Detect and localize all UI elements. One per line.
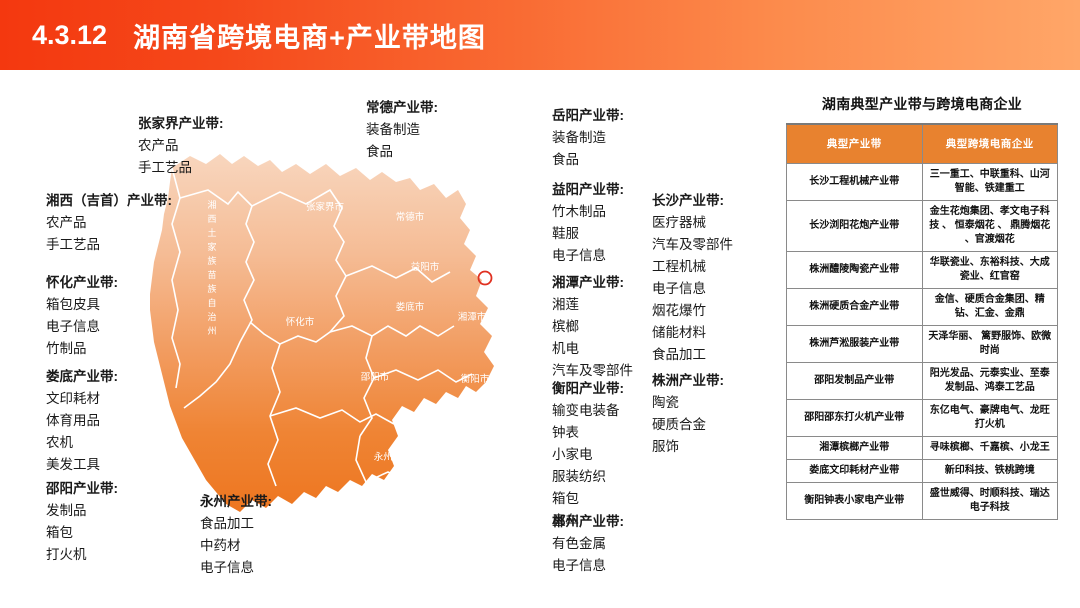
belt-item: 体育用品 [46, 410, 118, 432]
belt-item: 小家电 [552, 444, 624, 466]
section-number: 4.3.12 [32, 20, 107, 51]
belt-title: 益阳产业带: [552, 179, 624, 201]
belt-item: 槟榔 [552, 316, 633, 338]
table-title: 湖南典型产业带与跨境电商企业 [786, 94, 1058, 114]
city-label-yiyang: 益阳市 [411, 261, 440, 273]
belt-item: 文印耗材 [46, 388, 118, 410]
belt-item: 工程机械 [652, 256, 733, 278]
capital-city-marker [479, 272, 492, 285]
svg-text:自: 自 [207, 297, 216, 308]
belt-item: 美发工具 [46, 454, 118, 476]
belt-item: 装备制造 [552, 127, 624, 149]
belt-item: 烟花爆竹 [652, 300, 733, 322]
cell-belt: 株洲芦淞服装产业带 [787, 326, 923, 363]
cell-belt: 湘潭槟榔产业带 [787, 437, 923, 460]
belt-item: 陶瓷 [652, 392, 724, 414]
cell-companies: 金信、硬质合金集团、精钻、汇金、金鼎 [922, 289, 1058, 326]
belt-item: 电子信息 [46, 316, 118, 338]
belt-item: 手工艺品 [46, 234, 172, 256]
map-svg: 张家界市 常德市 岳阳市 益阳市 长沙市 怀化市 娄底市 湘潭市 株洲市 邵阳市… [120, 120, 550, 580]
belt-label-hengyang: 衡阳产业带: 输变电装备 钟表 小家电 服装纺织 箱包 童车 [552, 378, 624, 532]
belt-item: 发制品 [46, 500, 118, 522]
table-row: 株洲醴陵陶瓷产业带 华联瓷业、东裕科技、大成瓷业、红官窑 [787, 252, 1058, 289]
svg-text:西: 西 [207, 214, 216, 224]
belt-item: 食品 [552, 149, 624, 171]
belt-title: 邵阳产业带: [46, 478, 118, 500]
belt-item: 汽车及零部件 [652, 234, 733, 256]
belt-label-xiangtan: 湘潭产业带: 湘莲 槟榔 机电 汽车及零部件 [552, 272, 633, 382]
city-label-loudi: 娄底市 [396, 301, 425, 313]
belt-item: 箱包 [552, 488, 624, 510]
belt-item: 有色金属 [552, 533, 624, 555]
svg-text:治: 治 [207, 311, 216, 322]
belt-item: 电子信息 [552, 245, 624, 267]
belt-label-chenzhou: 郴州产业带: 有色金属 电子信息 [552, 511, 624, 577]
svg-text:湘: 湘 [207, 199, 216, 210]
belt-label-zhangjiajie: 张家界产业带: 农产品 手工艺品 [138, 113, 224, 179]
belt-label-yongzhou: 永州产业带: 食品加工 中药材 电子信息 [200, 491, 272, 579]
belt-item: 医疗器械 [652, 212, 733, 234]
city-label-changsha: 长沙市 [496, 273, 525, 285]
cell-belt: 株洲硬质合金产业带 [787, 289, 923, 326]
cell-companies: 寻味槟榔、千嘉槟、小龙王 [922, 437, 1058, 460]
table-header-row: 典型产业带 典型跨境电商企业 [787, 124, 1058, 164]
belt-label-changsha: 长沙产业带: 医疗器械 汽车及零部件 工程机械 电子信息 烟花爆竹 储能材料 食… [652, 190, 733, 366]
table-row: 邵阳邵东打火机产业带 东亿电气、豪牌电气、龙旺打火机 [787, 400, 1058, 437]
table-row: 长沙工程机械产业带 三一重工、中联重科、山河智能、铁建重工 [787, 164, 1058, 201]
industry-belt-table-panel: 湖南典型产业带与跨境电商企业 典型产业带 典型跨境电商企业 长沙工程机械产业带 … [786, 94, 1058, 520]
cell-companies: 新印科技、铁桃跨境 [922, 460, 1058, 483]
belt-title: 湘潭产业带: [552, 272, 633, 294]
belt-title: 郴州产业带: [552, 511, 624, 533]
cell-belt: 长沙浏阳花炮产业带 [787, 201, 923, 252]
cell-companies: 盛世威得、时顺科技、瑞达电子科技 [922, 483, 1058, 520]
belt-item: 电子信息 [552, 555, 624, 577]
cell-belt: 邵阳发制品产业带 [787, 363, 923, 400]
belt-item: 电子信息 [200, 557, 272, 579]
belt-title: 永州产业带: [200, 491, 272, 513]
belt-title: 衡阳产业带: [552, 378, 624, 400]
svg-text:族: 族 [207, 255, 216, 266]
belt-title: 株洲产业带: [652, 370, 724, 392]
svg-text:家: 家 [207, 241, 216, 252]
svg-text:族: 族 [207, 283, 216, 294]
belt-item: 储能材料 [652, 322, 733, 344]
belt-label-shaoyang: 邵阳产业带: 发制品 箱包 打火机 [46, 478, 118, 566]
belt-label-xiangxi: 湘西（吉首）产业带: 农产品 手工艺品 [46, 190, 172, 256]
belt-item: 竹木制品 [552, 201, 624, 223]
city-label-zhuzhou: 株洲市 [504, 331, 533, 343]
cell-belt: 娄底文印耗材产业带 [787, 460, 923, 483]
city-label-yongzhou: 永州市 [374, 451, 403, 463]
column-header-belt: 典型产业带 [787, 124, 923, 164]
cell-companies: 华联瓷业、东裕科技、大成瓷业、红官窑 [922, 252, 1058, 289]
cell-companies: 三一重工、中联重科、山河智能、铁建重工 [922, 164, 1058, 201]
table-row: 湘潭槟榔产业带 寻味槟榔、千嘉槟、小龙王 [787, 437, 1058, 460]
page-title: 湖南省跨境电商+产业带地图 [133, 16, 486, 55]
belt-label-huaihua: 怀化产业带: 箱包皮具 电子信息 竹制品 [46, 272, 118, 360]
belt-item: 农产品 [46, 212, 172, 234]
svg-text:苗: 苗 [207, 270, 216, 280]
belt-title: 长沙产业带: [652, 190, 733, 212]
svg-text:州: 州 [207, 326, 216, 336]
belt-item: 手工艺品 [138, 157, 224, 179]
city-label-shaoyang: 邵阳市 [361, 371, 390, 383]
table-row: 株洲芦淞服装产业带 天泽华丽、 篱野服饰、欧微时尚 [787, 326, 1058, 363]
belt-item: 竹制品 [46, 338, 118, 360]
city-label-hengyang: 衡阳市 [461, 373, 490, 385]
belt-item: 钟表 [552, 422, 624, 444]
belt-title: 怀化产业带: [46, 272, 118, 294]
belt-label-zhuzhou: 株洲产业带: 陶瓷 硬质合金 服饰 [652, 370, 724, 458]
belt-item: 服装纺织 [552, 466, 624, 488]
cell-companies: 金生花炮集团、孝文电子科技 、 恒泰烟花 、 鼎腾烟花 、官渡烟花 [922, 201, 1058, 252]
belt-item: 箱包皮具 [46, 294, 118, 316]
column-header-companies: 典型跨境电商企业 [922, 124, 1058, 164]
belt-item: 打火机 [46, 544, 118, 566]
belt-item: 电子信息 [652, 278, 733, 300]
belt-item: 农机 [46, 432, 118, 454]
belt-item: 中药材 [200, 535, 272, 557]
table-row: 长沙浏阳花炮产业带 金生花炮集团、孝文电子科技 、 恒泰烟花 、 鼎腾烟花 、官… [787, 201, 1058, 252]
belt-label-changde: 常德产业带: 装备制造 食品 [366, 97, 438, 163]
cell-companies: 天泽华丽、 篱野服饰、欧微时尚 [922, 326, 1058, 363]
belt-item: 装备制造 [366, 119, 438, 141]
table-row: 衡阳钟表小家电产业带 盛世威得、时顺科技、瑞达电子科技 [787, 483, 1058, 520]
belt-item: 湘莲 [552, 294, 633, 316]
hunan-province-map: 张家界市 常德市 岳阳市 益阳市 长沙市 怀化市 娄底市 湘潭市 株洲市 邵阳市… [120, 120, 550, 580]
cell-belt: 邵阳邵东打火机产业带 [787, 400, 923, 437]
belt-label-yueyang: 岳阳产业带: 装备制造 食品 [552, 105, 624, 171]
city-label-huaihua: 怀化市 [286, 316, 315, 328]
belt-item: 农产品 [138, 135, 224, 157]
belt-item: 食品 [366, 141, 438, 163]
table-row: 娄底文印耗材产业带 新印科技、铁桃跨境 [787, 460, 1058, 483]
svg-text:土: 土 [207, 227, 216, 238]
belt-item: 服饰 [652, 436, 724, 458]
belt-item: 箱包 [46, 522, 118, 544]
belt-label-loudi: 娄底产业带: 文印耗材 体育用品 农机 美发工具 [46, 366, 118, 476]
cell-belt: 株洲醴陵陶瓷产业带 [787, 252, 923, 289]
belt-title: 湘西（吉首）产业带: [46, 190, 172, 212]
table-body: 长沙工程机械产业带 三一重工、中联重科、山河智能、铁建重工 长沙浏阳花炮产业带 … [787, 164, 1058, 520]
cell-belt: 长沙工程机械产业带 [787, 164, 923, 201]
industry-belt-table: 典型产业带 典型跨境电商企业 长沙工程机械产业带 三一重工、中联重科、山河智能、… [786, 123, 1058, 520]
page-header-bar: 4.3.12 湖南省跨境电商+产业带地图 [0, 0, 1080, 70]
belt-item: 食品加工 [200, 513, 272, 535]
belt-item: 输变电装备 [552, 400, 624, 422]
cell-belt: 衡阳钟表小家电产业带 [787, 483, 923, 520]
belt-title: 张家界产业带: [138, 113, 224, 135]
cell-companies: 阳光发品、元泰实业、至泰发制品、鸿泰工艺品 [922, 363, 1058, 400]
belt-title: 岳阳产业带: [552, 105, 624, 127]
belt-label-yiyang: 益阳产业带: 竹木制品 鞋服 电子信息 [552, 179, 624, 267]
belt-item: 食品加工 [652, 344, 733, 366]
belt-item: 机电 [552, 338, 633, 360]
belt-title: 常德产业带: [366, 97, 438, 119]
table-row: 邵阳发制品产业带 阳光发品、元泰实业、至泰发制品、鸿泰工艺品 [787, 363, 1058, 400]
belt-item: 硬质合金 [652, 414, 724, 436]
city-label-xiangtan: 湘潭市 [458, 311, 487, 323]
city-label-zhangjiajie: 张家界市 [306, 201, 345, 213]
belt-title: 娄底产业带: [46, 366, 118, 388]
page-header-content: 4.3.12 湖南省跨境电商+产业带地图 [32, 0, 486, 70]
belt-item: 鞋服 [552, 223, 624, 245]
city-label-changde: 常德市 [396, 211, 425, 223]
city-label-chenzhou: 郴州市 [461, 466, 490, 478]
table-row: 株洲硬质合金产业带 金信、硬质合金集团、精钻、汇金、金鼎 [787, 289, 1058, 326]
cell-companies: 东亿电气、豪牌电气、龙旺打火机 [922, 400, 1058, 437]
city-label-yueyang: 岳阳市 [484, 235, 513, 247]
